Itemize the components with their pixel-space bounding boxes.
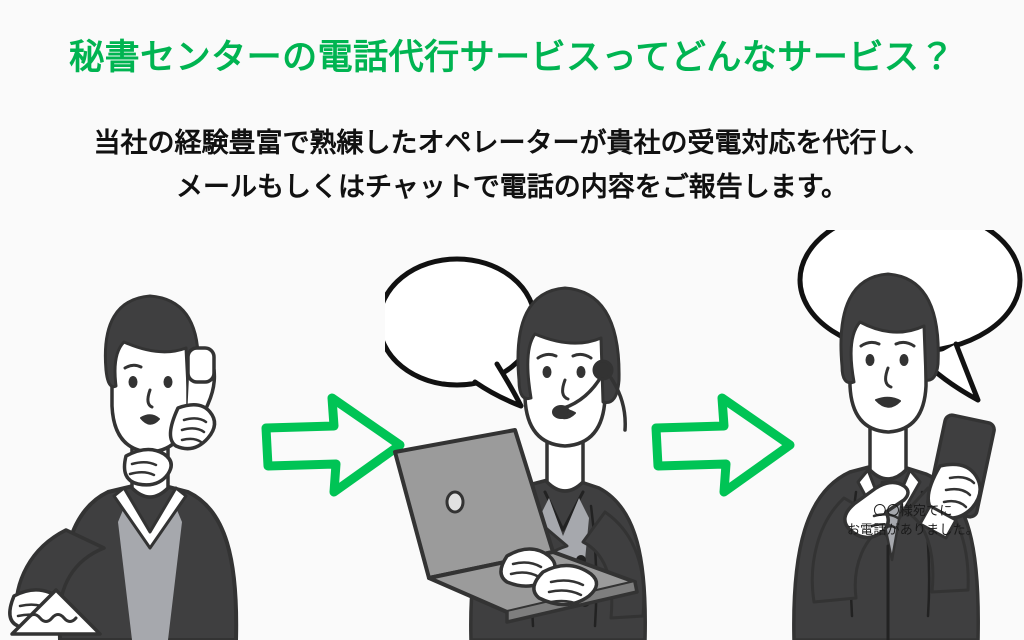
- flow-step-caller: [0, 230, 270, 640]
- speech-bubble-report-text: 〇〇様宛てに お電話がありました。: [833, 502, 993, 540]
- slide-canvas: 秘書センターの電話代行サービスってどんなサービス？ 当社の経験豊富で熟練したオペ…: [0, 0, 1024, 640]
- subcopy-line-1: 当社の経験豊富で熟練したオペレーターが貴社の受電対応を代行し、: [0, 122, 1024, 166]
- flow-step-operator: [385, 230, 655, 640]
- bubble-line-2: お電話がありました。: [833, 521, 993, 540]
- subcopy-block: 当社の経験豊富で熟練したオペレーターが貴社の受電対応を代行し、 メールもしくはチ…: [0, 122, 1024, 209]
- speech-bubble-empty: [385, 259, 535, 406]
- page-title: 秘書センターの電話代行サービスってどんなサービス？: [0, 38, 1024, 78]
- subcopy-line-2: メールもしくはチャットで電話の内容をご報告します。: [0, 166, 1024, 210]
- operator-at-laptop-icon: [385, 230, 655, 640]
- caller-on-phone-icon: [0, 230, 270, 640]
- flow-step-client: [770, 230, 1024, 640]
- client-with-smartphone-icon: [770, 230, 1024, 640]
- bubble-line-1: 〇〇様宛てに: [833, 502, 993, 521]
- flow-illustration: 〇〇様宛てに お電話がありました。: [0, 230, 1024, 640]
